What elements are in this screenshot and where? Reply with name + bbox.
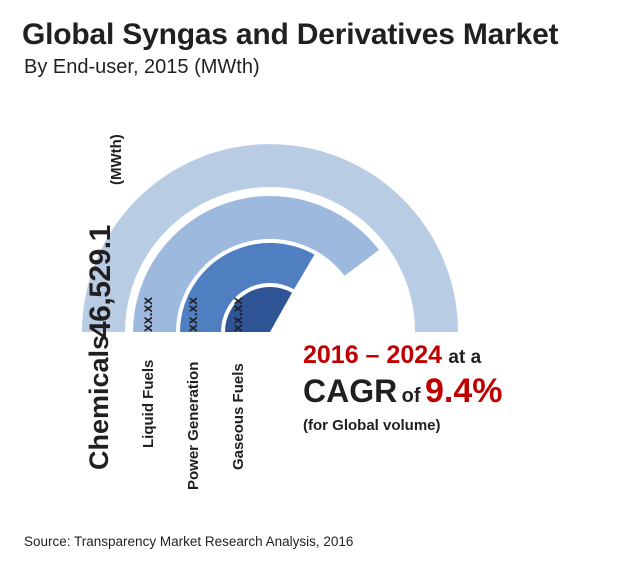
bar-label-gaseous-fuels: Gaseous Fuels <box>230 363 247 470</box>
cagr-at-a: at a <box>448 347 481 368</box>
source-note: Source: Transparency Market Research Ana… <box>24 534 353 549</box>
bar-unit-chemicals: (MWth) <box>108 134 125 185</box>
cagr-percent: 9.4% <box>425 372 503 410</box>
bar-label-chemicals: Chemicals <box>84 335 115 470</box>
cagr-value-line: CAGR of 9.4% <box>303 372 603 411</box>
bar-value-power-generation: xx.xx <box>184 297 200 332</box>
cagr-callout: 2016 – 2024 at a CAGR of 9.4% (for Globa… <box>303 342 603 434</box>
bar-value-gaseous-fuels: xx.xx <box>229 297 245 332</box>
bar-label-power-generation: Power Generation <box>185 362 202 490</box>
cagr-of: of <box>402 385 421 407</box>
cagr-years: 2016 – 2024 <box>303 341 442 369</box>
bar-value-chemicals: 46,529.1 <box>84 225 118 338</box>
bar-label-liquid-fuels: Liquid Fuels <box>140 360 157 448</box>
arc-bar-chart: Chemicals 46,529.1 (MWth) Liquid Fuels x… <box>0 0 620 573</box>
cagr-note: (for Global volume) <box>303 417 603 434</box>
bar-value-liquid-fuels: xx.xx <box>139 297 155 332</box>
cagr-years-line: 2016 – 2024 at a <box>303 342 603 370</box>
cagr-word: CAGR <box>303 373 397 409</box>
